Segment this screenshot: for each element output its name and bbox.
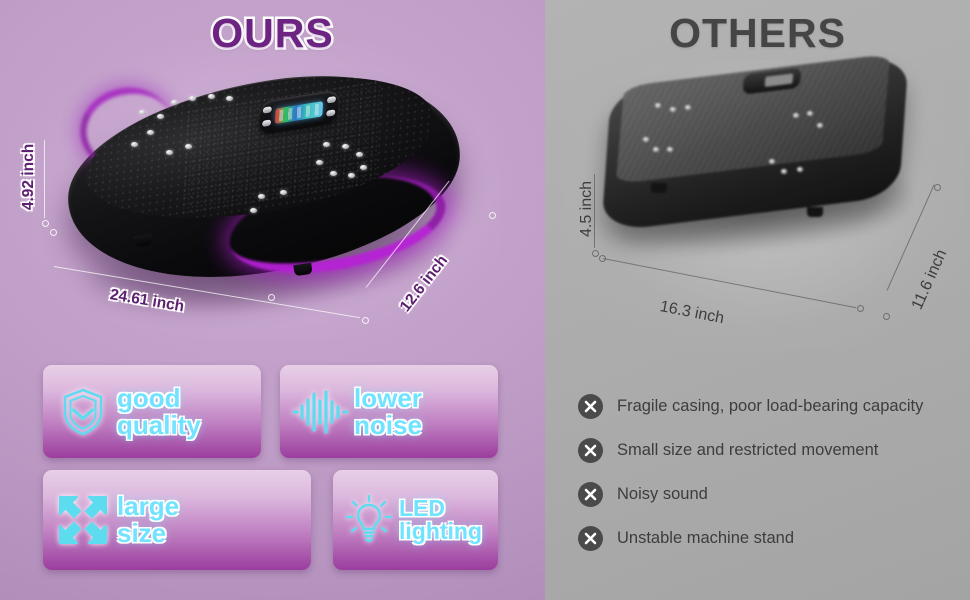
massage-stud <box>250 208 257 213</box>
con-text: Fragile casing, poor load-bearing capaci… <box>617 397 923 416</box>
massage-stud <box>348 173 355 178</box>
massage-stud <box>171 100 178 105</box>
expand-arrows-icon <box>53 493 113 547</box>
badge-line-2: quality <box>117 412 251 439</box>
badge-line-2: lighting <box>399 520 488 543</box>
massage-stud <box>685 105 691 110</box>
massage-stud <box>330 171 337 176</box>
product-foot <box>651 183 667 193</box>
massage-stud <box>189 96 196 101</box>
massage-stud <box>185 144 192 149</box>
x-circle-icon <box>578 438 603 463</box>
massage-stud <box>360 165 367 170</box>
badge-lower-noise[interactable]: lower noise <box>280 365 498 458</box>
massage-stud <box>769 159 775 164</box>
lcd-screen <box>275 101 323 124</box>
comparison-infographic: OURS <box>0 0 970 600</box>
dimension-endpoint <box>592 250 599 257</box>
dimension-label-height: 4.5 inch <box>578 181 596 237</box>
x-circle-icon <box>578 394 603 419</box>
massage-stud <box>280 190 287 195</box>
display-button[interactable] <box>262 119 271 127</box>
ours-product-image <box>58 68 478 308</box>
ours-panel: OURS <box>0 0 545 600</box>
others-title: OTHERS <box>545 10 970 57</box>
massage-stud <box>655 103 661 108</box>
massage-stud <box>226 96 233 101</box>
massage-stud <box>653 147 659 152</box>
badge-label-large-size: large size <box>113 493 301 546</box>
con-item-unstable: Unstable machine stand <box>578 516 963 560</box>
dimension-endpoint <box>489 212 496 219</box>
display-button[interactable] <box>263 106 272 114</box>
dimension-label-width: 16.3 inch <box>658 298 725 328</box>
massage-stud <box>342 144 349 149</box>
massage-stud <box>781 169 787 174</box>
dimension-endpoint <box>857 305 864 312</box>
badge-line-1: good <box>117 383 181 413</box>
massage-stud <box>793 113 799 118</box>
ours-title: OURS <box>0 10 545 57</box>
massage-stud <box>670 107 676 112</box>
massage-stud <box>166 150 173 155</box>
massage-stud <box>643 137 649 142</box>
badge-line-1: lower <box>354 383 422 413</box>
dimension-endpoint <box>362 317 369 324</box>
sound-wave-icon <box>290 388 350 436</box>
dimension-label-depth: 11.6 inch <box>909 247 951 313</box>
lightbulb-icon <box>343 494 395 546</box>
badge-large-size[interactable]: large size <box>43 470 311 570</box>
massage-stud <box>258 194 265 199</box>
badge-line-2: noise <box>354 412 488 439</box>
massage-stud <box>208 94 215 99</box>
massage-stud <box>157 114 164 119</box>
others-panel: OTHERS 4.5 inch <box>545 0 970 600</box>
massage-stud <box>131 142 138 147</box>
dimension-endpoint <box>50 229 57 236</box>
dimension-endpoint <box>268 294 275 301</box>
x-circle-icon <box>578 526 603 551</box>
massage-stud <box>139 110 146 115</box>
massage-stud <box>667 147 673 152</box>
massage-stud <box>356 152 363 157</box>
product-foot <box>807 207 823 217</box>
dimension-endpoint <box>934 184 941 191</box>
display-button[interactable] <box>326 109 335 117</box>
x-circle-icon <box>578 482 603 507</box>
badge-led-lighting[interactable]: LED lighting <box>333 470 498 570</box>
dimension-endpoint <box>599 255 606 262</box>
display-button[interactable] <box>327 96 336 104</box>
others-product-image <box>595 55 935 255</box>
dimension-endpoint <box>42 220 49 227</box>
massage-stud <box>147 130 154 135</box>
con-item-small: Small size and restricted movement <box>578 428 963 472</box>
feature-badge-grid: good quality <box>43 365 513 580</box>
dimension-label-height: 4.92 inch <box>20 144 38 210</box>
dimension-endpoint <box>883 313 890 320</box>
badge-label-good-quality: good quality <box>113 385 251 438</box>
con-text: Small size and restricted movement <box>617 441 878 460</box>
shield-check-icon <box>53 387 113 437</box>
badge-line-1: LED <box>399 495 445 521</box>
cons-list: Fragile casing, poor load-bearing capaci… <box>578 384 963 560</box>
badge-line-1: large <box>117 491 179 521</box>
massage-stud <box>807 111 813 116</box>
massage-stud <box>316 160 323 165</box>
massage-stud <box>797 167 803 172</box>
con-text: Unstable machine stand <box>617 529 794 548</box>
badge-label-led-lighting: LED lighting <box>395 497 488 544</box>
badge-label-lower-noise: lower noise <box>350 385 488 438</box>
badge-good-quality[interactable]: good quality <box>43 365 261 458</box>
dimension-line-height <box>44 140 45 218</box>
dimension-line-width <box>603 258 856 308</box>
massage-stud <box>323 142 330 147</box>
con-text: Noisy sound <box>617 485 708 504</box>
con-item-noisy: Noisy sound <box>578 472 963 516</box>
badge-line-2: size <box>117 520 301 547</box>
massage-stud <box>817 123 823 128</box>
con-item-fragile: Fragile casing, poor load-bearing capaci… <box>578 384 963 428</box>
